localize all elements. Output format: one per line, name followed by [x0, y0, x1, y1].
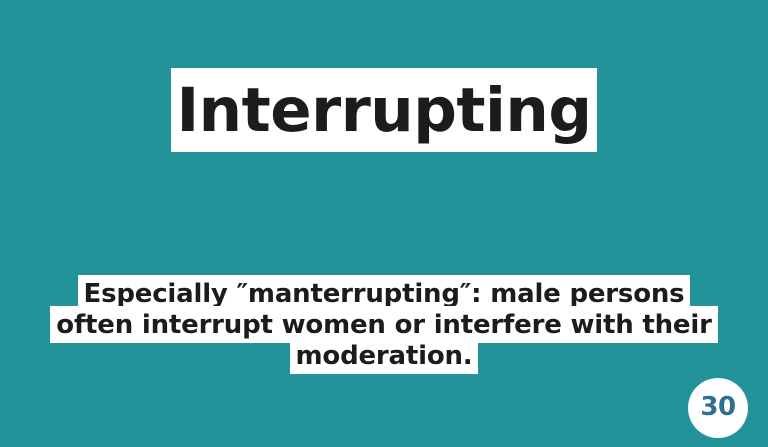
- slide-title-text: Interrupting: [171, 68, 596, 152]
- slide-subtitle: Especially ″manterrupting″: male persons…: [0, 279, 768, 372]
- page-number-badge: 30: [688, 378, 748, 438]
- subtitle-line: moderation.: [0, 341, 768, 372]
- page-number-badge-label: 30: [700, 394, 735, 420]
- subtitle-line-text: moderation.: [290, 337, 479, 374]
- slide-canvas: Interrupting Especially ″manterrupting″:…: [0, 0, 768, 447]
- slide-title: Interrupting: [0, 80, 768, 141]
